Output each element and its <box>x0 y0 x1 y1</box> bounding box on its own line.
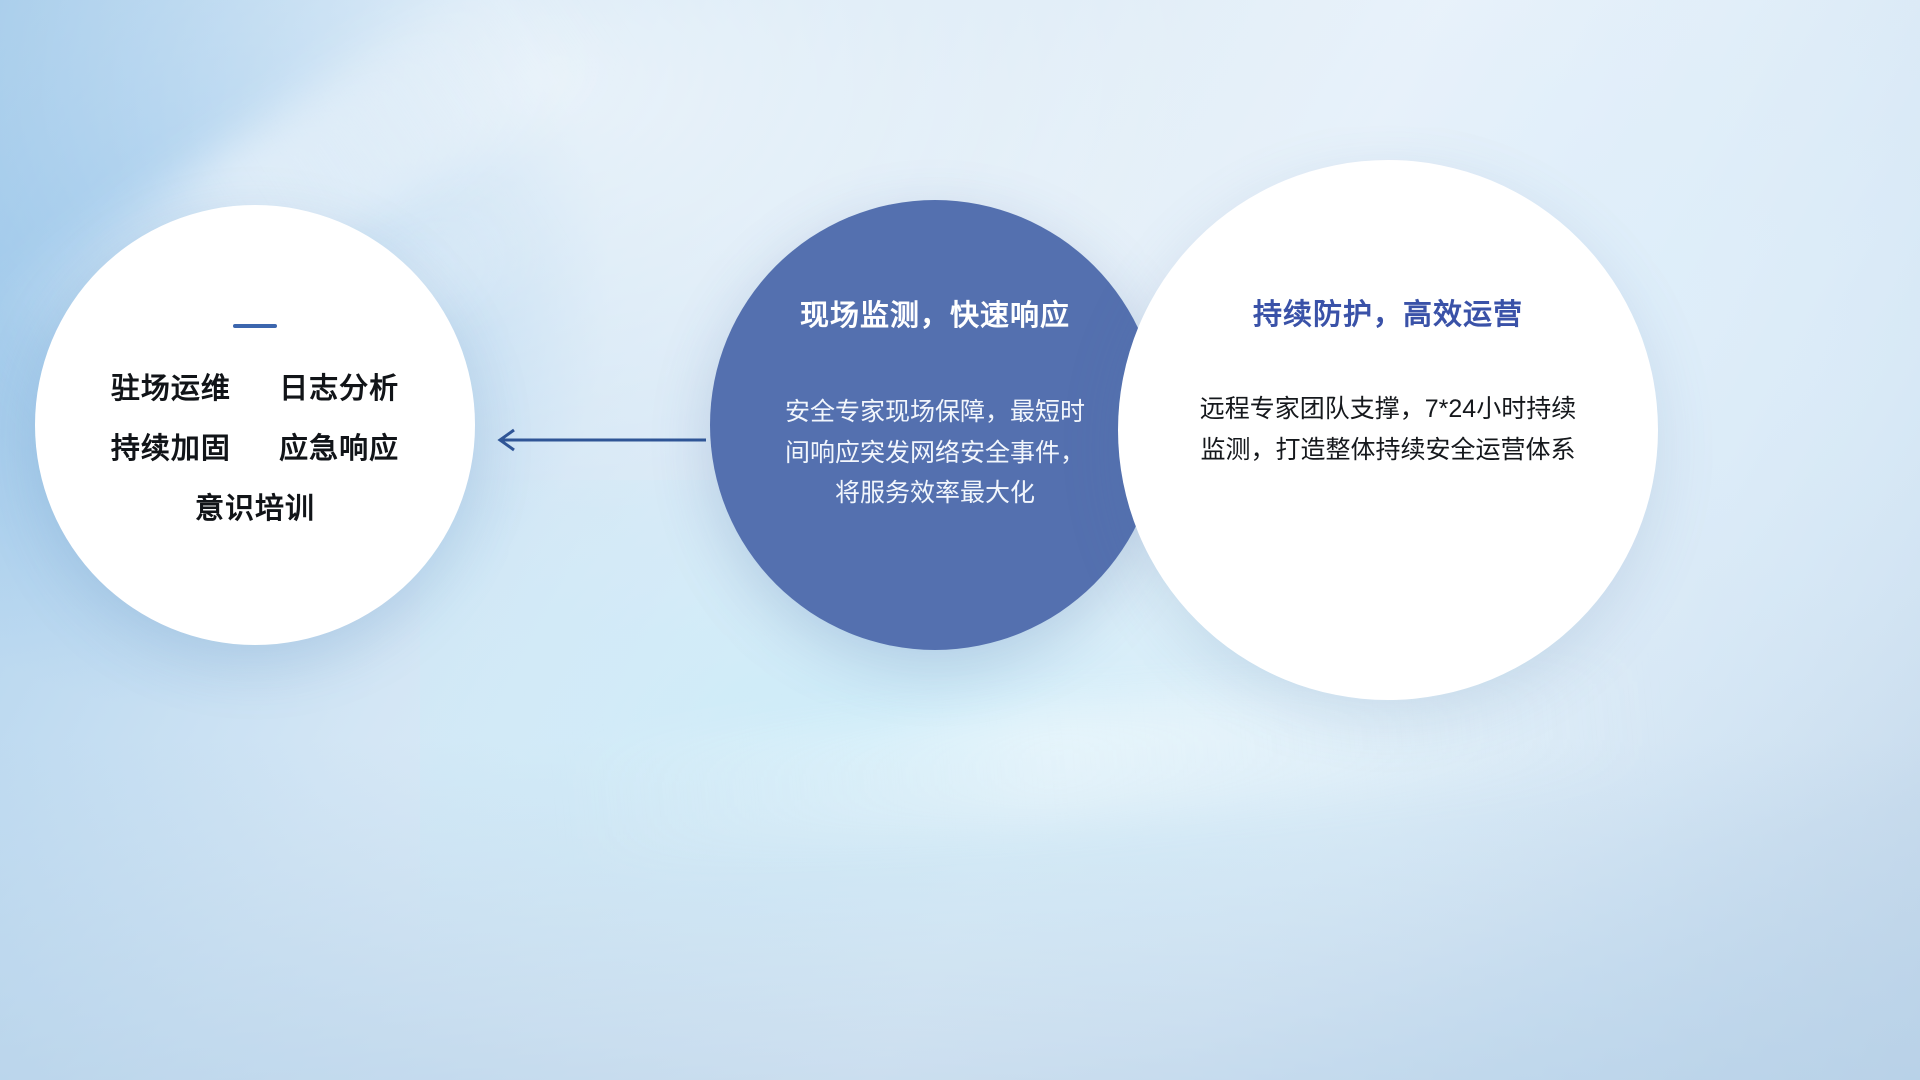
divider-dash <box>233 324 277 328</box>
arrow-left-icon <box>488 424 708 456</box>
capability-label: 应急响应 <box>279 433 399 465</box>
capabilities-circle: 驻场运维 日志分析 持续加固 应急响应 意识培训 <box>35 205 475 645</box>
onsite-monitoring-title: 现场监测，快速响应 <box>800 292 1070 334</box>
background-bottom-haze <box>0 740 1920 1080</box>
capability-row: 驻场运维 日志分析 <box>111 372 399 406</box>
continuous-protection-circle: 持续防护，高效运营 远程专家团队支撑，7*24小时持续监测，打造整体持续安全运营… <box>1118 160 1658 700</box>
capability-row: 持续加固 应急响应 <box>111 432 399 466</box>
continuous-protection-body: 远程专家团队支撑，7*24小时持续监测，打造整体持续安全运营体系 <box>1198 389 1578 470</box>
continuous-protection-title: 持续防护，高效运营 <box>1253 291 1523 333</box>
capability-label: 日志分析 <box>279 373 399 405</box>
capability-label: 驻场运维 <box>111 373 231 405</box>
slide-canvas: 驻场运维 日志分析 持续加固 应急响应 意识培训 现场监测，快速响应 安全专家现… <box>0 0 1920 1080</box>
capability-row: 意识培训 <box>195 492 315 526</box>
capability-label: 持续加固 <box>111 433 231 465</box>
onsite-monitoring-body: 安全专家现场保障，最短时间响应突发网络安全事件，将服务效率最大化 <box>780 392 1090 514</box>
capability-label: 意识培训 <box>195 493 315 525</box>
onsite-monitoring-circle: 现场监测，快速响应 安全专家现场保障，最短时间响应突发网络安全事件，将服务效率最… <box>710 200 1160 650</box>
